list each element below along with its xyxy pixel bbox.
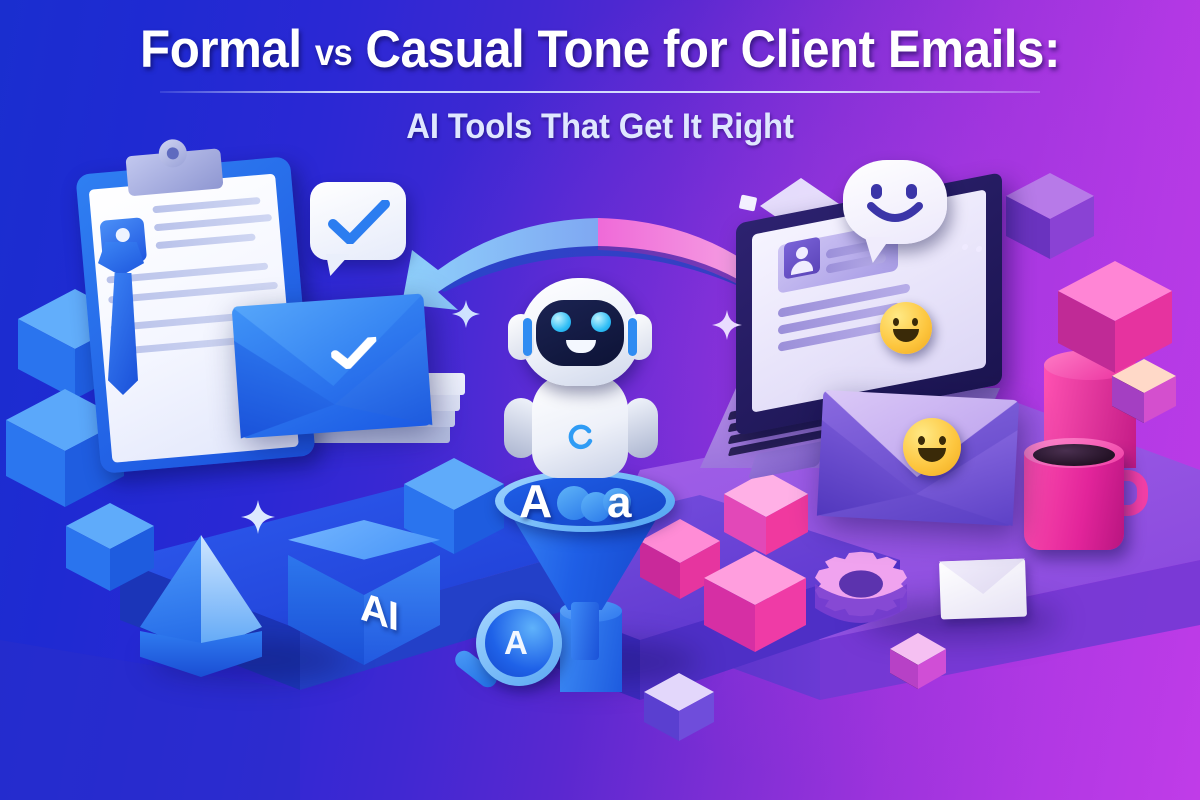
robot-face-screen bbox=[536, 300, 624, 366]
robot-arm bbox=[624, 398, 658, 458]
decorative-cube bbox=[1108, 356, 1180, 426]
speech-bubble-smiley bbox=[843, 160, 947, 244]
coffee-surface bbox=[1033, 444, 1115, 466]
smiley-emoji bbox=[903, 418, 961, 476]
funnel-letter-uppercase: A bbox=[519, 474, 552, 528]
title-word-formal: Formal bbox=[140, 20, 302, 79]
ai-robot-mascot bbox=[496, 278, 664, 478]
decorative-cube bbox=[640, 670, 718, 744]
pyramid-shape bbox=[140, 535, 262, 685]
ai-cube: AI bbox=[288, 520, 440, 680]
sparkle-icon bbox=[712, 310, 742, 340]
check-icon bbox=[328, 200, 390, 244]
coffee-mug bbox=[1024, 448, 1148, 554]
sparkle-icon bbox=[452, 300, 480, 328]
page-title: Formal vs Casual Tone for Client Emails: bbox=[42, 22, 1158, 78]
funnel-letter-lowercase: a bbox=[607, 478, 631, 528]
check-icon bbox=[330, 337, 378, 370]
robot-ear bbox=[508, 314, 534, 360]
sparkle-icon bbox=[241, 500, 275, 534]
title-divider bbox=[160, 91, 1040, 93]
robot-eye bbox=[591, 312, 611, 332]
smiley-emoji bbox=[880, 302, 932, 354]
hero-banner: A a AI A bbox=[0, 0, 1200, 800]
robot-ear bbox=[626, 314, 652, 360]
person-avatar-icon bbox=[784, 237, 820, 280]
speech-bubble-check bbox=[310, 182, 406, 260]
blue-envelope bbox=[232, 293, 433, 438]
title-rest: Casual Tone for Client Emails: bbox=[365, 20, 1060, 79]
white-envelope-icon bbox=[939, 559, 1027, 620]
page-subtitle: AI Tools That Get It Right bbox=[36, 107, 1164, 147]
robot-eye bbox=[551, 312, 571, 332]
smiley-icon bbox=[867, 202, 923, 230]
tone-funnel: A a bbox=[495, 470, 675, 665]
title-word-vs: vs bbox=[315, 32, 352, 73]
c-logo-icon bbox=[568, 424, 594, 450]
title-block: Formal vs Casual Tone for Client Emails:… bbox=[0, 22, 1200, 147]
decorative-cube bbox=[886, 630, 950, 692]
decorative-cube bbox=[700, 548, 810, 656]
